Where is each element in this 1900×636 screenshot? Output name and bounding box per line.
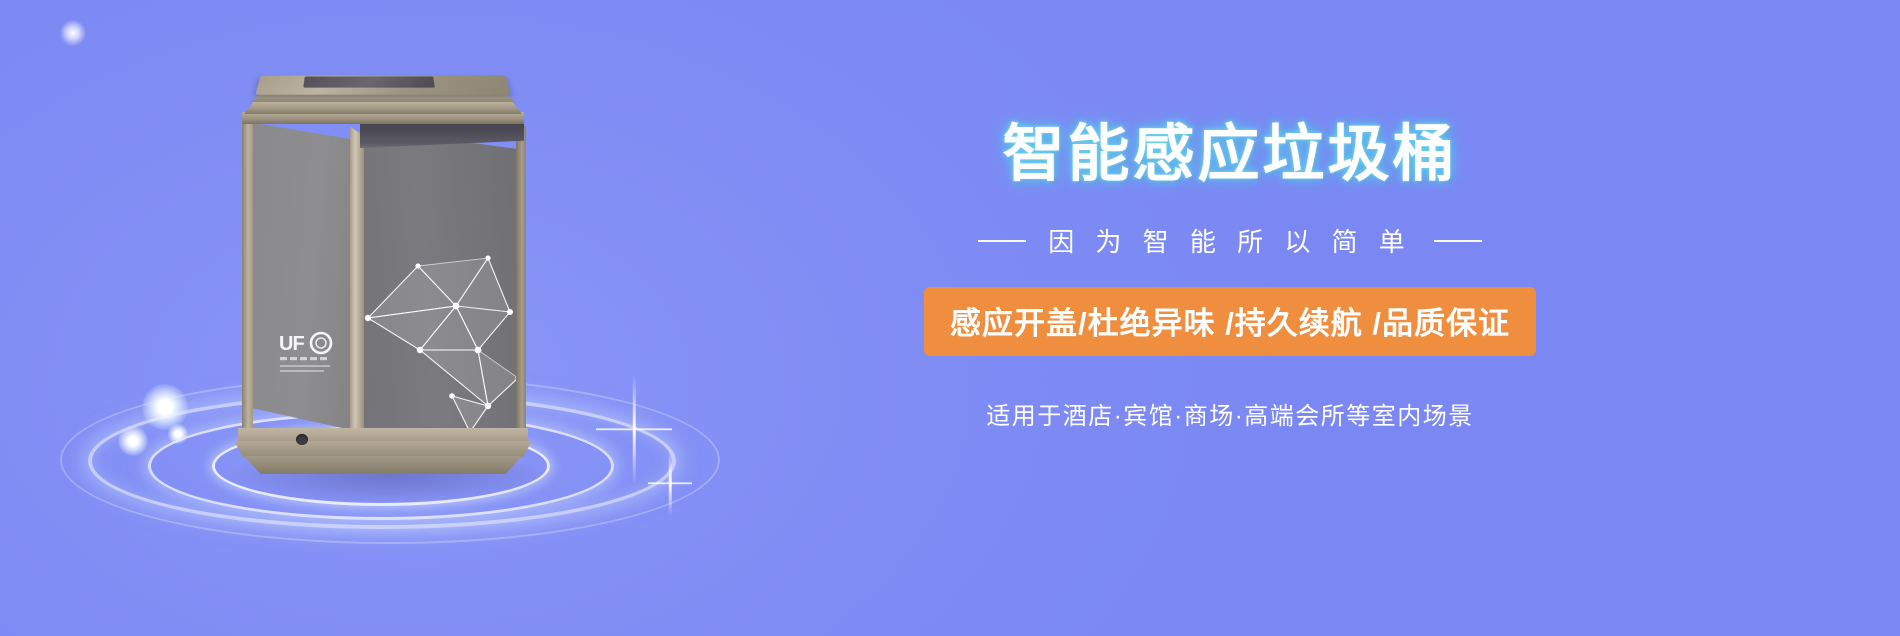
ring-glow-dot-1 xyxy=(142,384,188,430)
tagline-row: 因 为 智 能 所 以 简 单 xyxy=(880,222,1580,259)
product-scene: UF xyxy=(60,20,760,620)
tagline-text: 因 为 智 能 所 以 简 单 xyxy=(1048,222,1412,259)
trash-bin-product-image: UF xyxy=(230,60,550,460)
bin-base-tier-2 xyxy=(234,441,532,457)
sparkle-glow-dot xyxy=(60,20,86,46)
bin-base-tier-1 xyxy=(238,428,528,442)
page-title: 智能感应垃圾桶 xyxy=(880,120,1580,186)
tagline-rule-right xyxy=(1434,240,1482,242)
ring-glow-dot-2 xyxy=(118,426,148,456)
ring-glow-dot-3 xyxy=(168,424,188,444)
feature-highlight-text: 感应开盖/杜绝异味 /持久续航 /品质保证 xyxy=(950,306,1510,341)
bin-lid-opening xyxy=(303,76,435,87)
ufo-logo-svg: UF xyxy=(278,330,350,378)
usage-scenario-text: 适用于酒店·宾馆·商场·高端会所等室内场景 xyxy=(880,396,1580,431)
bin-lid-shadow-band xyxy=(360,122,524,148)
tagline-rule-left xyxy=(978,240,1026,242)
bin-edge-left xyxy=(242,120,253,438)
bin-body-left-face xyxy=(248,122,360,432)
product-banner: UF xyxy=(0,0,1900,636)
bin-lid-rim-mid xyxy=(244,100,522,114)
network-polygon-svg xyxy=(360,210,526,442)
svg-text:UF: UF xyxy=(279,333,304,355)
bin-base-tier-3 xyxy=(244,456,522,474)
marketing-copy-block: 智能感应垃圾桶 因 为 智 能 所 以 简 单 感应开盖/杜绝异味 /持久续航 … xyxy=(880,120,1580,480)
bin-edge-right xyxy=(516,126,526,438)
bin-network-decal xyxy=(360,210,526,442)
bin-edge-front xyxy=(350,120,364,440)
brand-logo-ufo: UF xyxy=(278,330,350,378)
bin-sensor-port xyxy=(296,434,308,445)
feature-highlight-bar: 感应开盖/杜绝异味 /持久续航 /品质保证 xyxy=(924,287,1536,356)
